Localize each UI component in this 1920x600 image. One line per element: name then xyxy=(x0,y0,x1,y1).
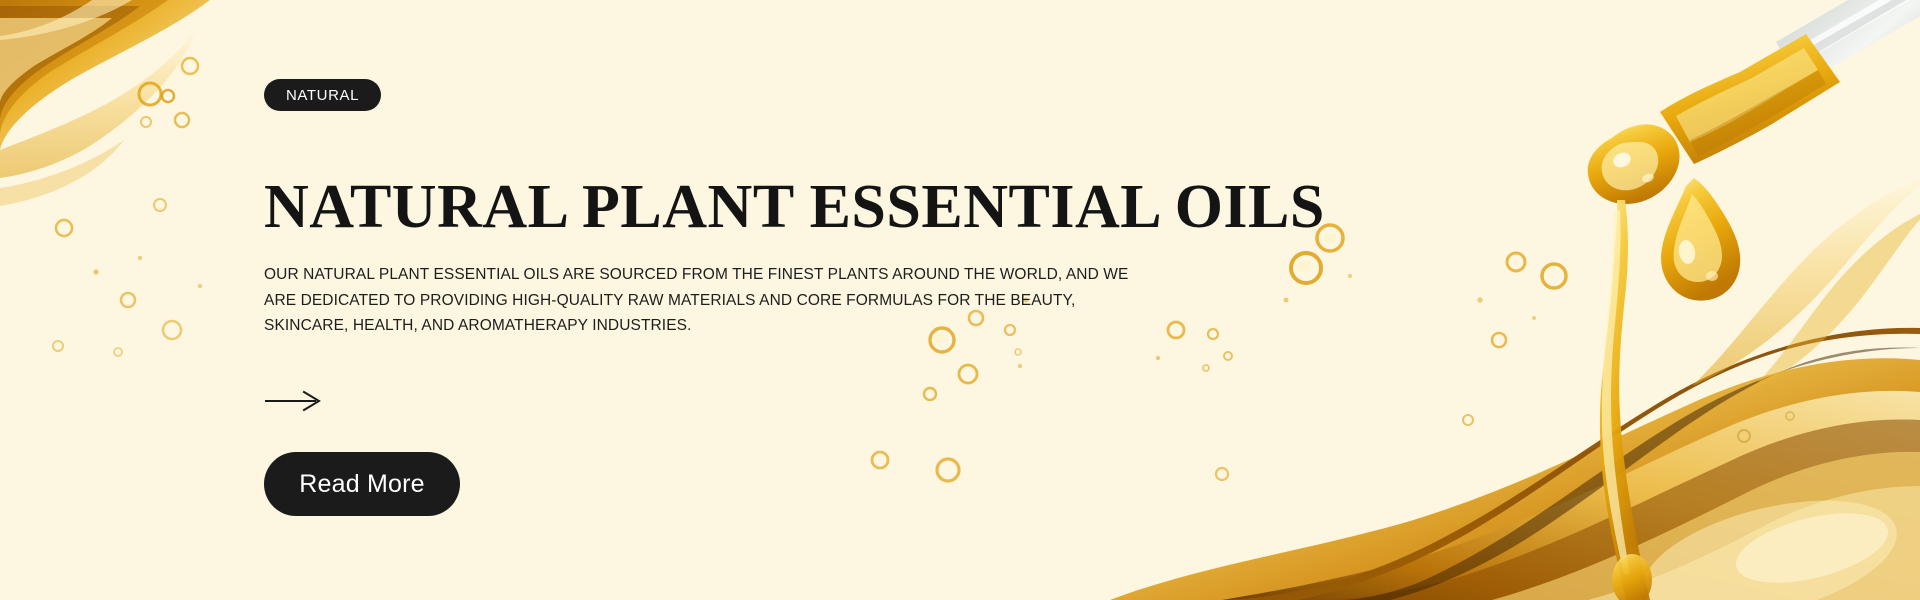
oil-splash-right xyxy=(1110,180,1920,600)
oil-swirl-top-left xyxy=(0,0,210,356)
arrow-right-icon xyxy=(264,390,322,412)
hero-banner: NATURAL NATURAL PLANT ESSENTIAL OILS OUR… xyxy=(0,0,1920,600)
read-more-button[interactable]: Read More xyxy=(264,452,460,516)
glass-dropper-pipette xyxy=(1588,0,1920,600)
natural-badge: NATURAL xyxy=(264,79,381,111)
banner-content: NATURAL NATURAL PLANT ESSENTIAL OILS OUR… xyxy=(264,0,1204,600)
arrow-right-link[interactable] xyxy=(264,390,322,412)
page-title: NATURAL PLANT ESSENTIAL OILS xyxy=(264,175,1325,239)
banner-description: OUR NATURAL PLANT ESSENTIAL OILS ARE SOU… xyxy=(264,262,1154,339)
